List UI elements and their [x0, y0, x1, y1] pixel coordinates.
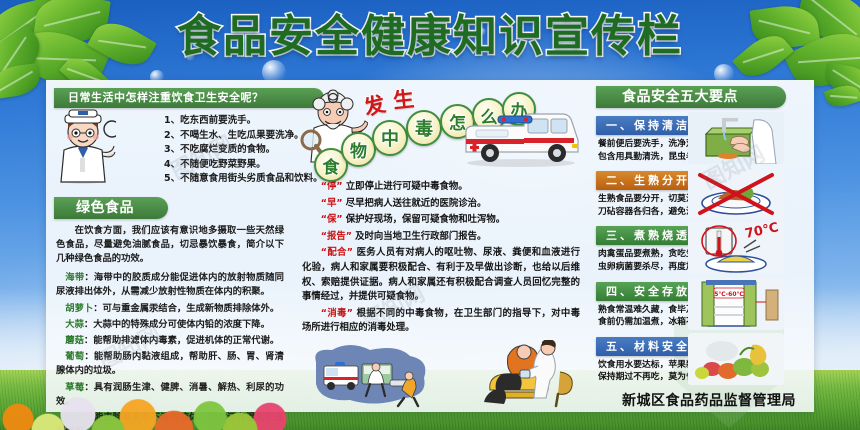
point-text: 尽早把病人送往就近的医院诊治。 — [346, 198, 487, 209]
list-item: 5、不随意食用街头劣质食品和饮料。 — [164, 172, 286, 187]
fresh-produce-icon — [688, 333, 784, 385]
svg-text:5℃-60℃: 5℃-60℃ — [714, 291, 744, 298]
point-text: 保护好现场，保留可疑食物和吐泻物。 — [346, 214, 505, 225]
item-sep: ： — [84, 351, 94, 362]
safety-point-2: 二、生熟分开 生熟食品要分开，切莫混杂共保存，刀砧容器各归各，避免污染惹病生。 — [596, 169, 808, 218]
content-board: 日常生活中怎样注重饮食卫生安全呢？ — [46, 80, 814, 412]
point-1-title: 保持清洁 — [634, 119, 690, 132]
refrigerator-icon: 5℃-60℃ — [688, 278, 784, 330]
green-food-item: 海带：海带中的胶质成分能促进体内的放射物质随同尿液排出体外，从需减少放射性物质在… — [56, 271, 284, 299]
point-4-num: 四 — [606, 285, 620, 298]
point-text: 立即停止进行可疑中毒食物。 — [346, 181, 468, 192]
item-name: 海带 — [65, 272, 84, 283]
poisoning-point: “保” 保护好现场，保留可疑食物和吐泻物。 — [302, 213, 580, 228]
point-1-num: 一 — [606, 119, 620, 132]
safety-point-4: 四、安全存放 熟食常温难久藏，食毕及时进冰箱，食前仍需加温煮，冰箱不是保险箱。 … — [596, 280, 808, 329]
fruit-photo-strip — [0, 374, 300, 430]
green-food-item: 蘑菇：能帮助排滤体内毒素，促进机体的正常代谢。 — [56, 334, 284, 348]
five-keys-header: 食品安全五大要点 — [596, 86, 786, 108]
rescue-scene-illustration — [306, 344, 436, 410]
left-column: 日常生活中怎样注重饮食卫生安全呢？ — [46, 80, 292, 412]
item-name: 蘑菇 — [65, 335, 84, 346]
point-2-num: 二 — [606, 174, 620, 187]
thermometer-70c-icon: 70℃ — [688, 222, 784, 274]
organization-name: 新城区食品药品监督管理局 — [622, 390, 796, 410]
point-5-title: 材料安全 — [634, 340, 690, 353]
illustration-row — [292, 344, 590, 418]
point-keyword: “配合” — [321, 247, 353, 258]
item-desc: 大蒜中的特殊成分可使体内铅的浓度下降。 — [93, 319, 270, 330]
doctor-mascot-icon — [50, 106, 116, 184]
point-5-num: 五 — [606, 340, 620, 353]
green-food-item: 胡萝卜：可与重金属汞结合，生成新物质排除体外。 — [56, 302, 284, 316]
point-keyword: “早” — [321, 198, 343, 209]
left-section-header: 日常生活中怎样注重饮食卫生安全呢？ — [54, 88, 324, 108]
page-title: 食品安全健康知识宣传栏 — [0, 8, 860, 66]
daily-tips-list: 1、吃东西前要洗手。 2、不喝生水、生吃瓜果要洗净。 3、不吃腐烂变质的食物。 … — [124, 114, 286, 187]
ambulance-icon — [458, 106, 584, 168]
poisoning-point: “停” 立即停止进行可疑中毒食物。 — [302, 180, 580, 195]
list-item: 1、吃东西前要洗手。 — [164, 114, 286, 129]
patient-examination-illustration — [464, 340, 582, 410]
poisoning-point: “配合” 医务人员有对病人的呕吐物、尿液、粪便和血液进行化验，病人和家属要积极配… — [302, 246, 580, 304]
point-3-title: 煮熟烧透 — [634, 229, 690, 242]
point-4-title: 安全存放 — [634, 285, 690, 298]
point-keyword: “保” — [321, 214, 343, 225]
list-item: 2、不喝生水、生吃瓜果要洗净。 — [164, 129, 286, 144]
safety-point-5: 五、材料安全 饮食用水要达标，苹果新鲜仔细挑，保持期过不再吃，莫为省钱把病招 — [596, 335, 808, 384]
list-item: 3、不吃腐烂变质的食物。 — [164, 143, 286, 158]
point-3-num: 三 — [606, 229, 620, 242]
item-name: 大蒜 — [65, 319, 84, 330]
title-circle-2: 物 — [341, 132, 376, 167]
item-name: 葡萄 — [65, 351, 84, 362]
poster-root: 食品安全健康知识宣传栏 日常生活中怎样注重饮食卫生安全呢？ — [0, 0, 860, 430]
item-name: 胡萝卜 — [65, 303, 93, 314]
raw-cooked-separation-icon — [688, 167, 784, 219]
item-sep: ： — [84, 319, 93, 330]
middle-column: 发 生 食 物 中 毒 怎 么 办 — [292, 80, 590, 412]
list-item: 4、不随便吃野菜野果。 — [164, 158, 286, 173]
item-desc: 能帮助排滤体内毒素，促进机体的正常代谢。 — [93, 335, 279, 346]
title-circle-3: 中 — [372, 120, 408, 156]
point-keyword: “报告” — [321, 231, 352, 242]
title-circle-4: 毒 — [406, 110, 442, 146]
safety-point-1: 一、保持清洁 餐前便后要洗手，洗净双手再下厨，包含用具勤清洗，昆虫老鼠要驱除。 — [596, 114, 808, 163]
handwashing-icon — [688, 112, 784, 164]
point-2-title: 生熟分开 — [634, 174, 690, 187]
poisoning-point: “报告” 及时向当地卫生行政部门报告。 — [302, 230, 580, 245]
item-desc: 可与重金属汞结合，生成新物质排除体外。 — [103, 303, 280, 314]
safety-point-3: 三、煮熟烧透 肉禽蛋品要煮熟，贪吃生鲜是期涂，虫卵病菌要杀尽，再度加热也要足。 … — [596, 224, 808, 273]
right-column: 食品安全五大要点 一、保持清洁 餐前便后要洗手，洗净双手再下厨，包含用具勤清洗，… — [590, 80, 814, 412]
title-prefix-char-2: 生 — [391, 83, 415, 115]
item-sep: ： — [84, 335, 93, 346]
green-food-intro: 在饮食方面，我们应该有意识地多摄取一些天然绿色食品，尽量避免油腻食品，切忌暴饮暴… — [56, 224, 284, 267]
item-sep: ： — [84, 272, 94, 283]
poisoning-point: “消毒” 根据不同的中毒食物，在卫生部门的指导下，对中毒场所进行相应的消毒处理。 — [302, 307, 580, 336]
point-text: 及时向当地卫生行政部门报告。 — [355, 231, 486, 242]
point-keyword: “消毒” — [321, 308, 353, 319]
point-keyword: “停” — [321, 181, 343, 192]
item-sep: ： — [93, 303, 102, 314]
green-food-item: 大蒜：大蒜中的特殊成分可使体内铅的浓度下降。 — [56, 318, 284, 332]
food-poisoning-title: 发 生 食 物 中 毒 怎 么 办 — [296, 86, 586, 178]
poisoning-point: “早” 尽早把病人送往就近的医院诊治。 — [302, 197, 580, 212]
green-food-header: 绿色食品 — [54, 197, 168, 219]
